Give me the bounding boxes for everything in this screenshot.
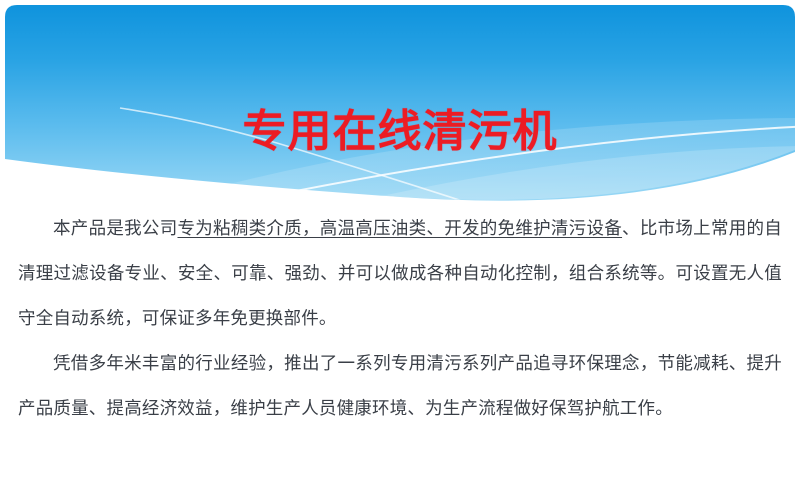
paragraph-1-segment-1: 本产品是我公司 (53, 218, 177, 238)
paragraph-2-segment-1: 凭借多年米丰富的行业经验，推出了一系列专用清污系列产品追寻环保理念，节能减耗、提… (18, 353, 782, 418)
paragraph-2: 凭借多年米丰富的行业经验，推出了一系列专用清污系列产品追寻环保理念，节能减耗、提… (18, 341, 782, 431)
page-title: 专用在线清污机 (0, 110, 800, 154)
paragraph-1: 本产品是我公司专为粘稠类介质，高温高压油类、开发的免维护清污设备、比市场上常用的… (18, 206, 782, 341)
slide-page: 专用在线清污机 本产品是我公司专为粘稠类介质，高温高压油类、开发的免维护清污设备… (0, 0, 800, 478)
body-content: 本产品是我公司专为粘稠类介质，高温高压油类、开发的免维护清污设备、比市场上常用的… (0, 206, 800, 431)
paragraph-1-segment-2: 专为粘稠类介质，高温高压油类、开发的免维护清污设备 (177, 218, 622, 238)
header-banner: 专用在线清污机 (0, 0, 800, 215)
